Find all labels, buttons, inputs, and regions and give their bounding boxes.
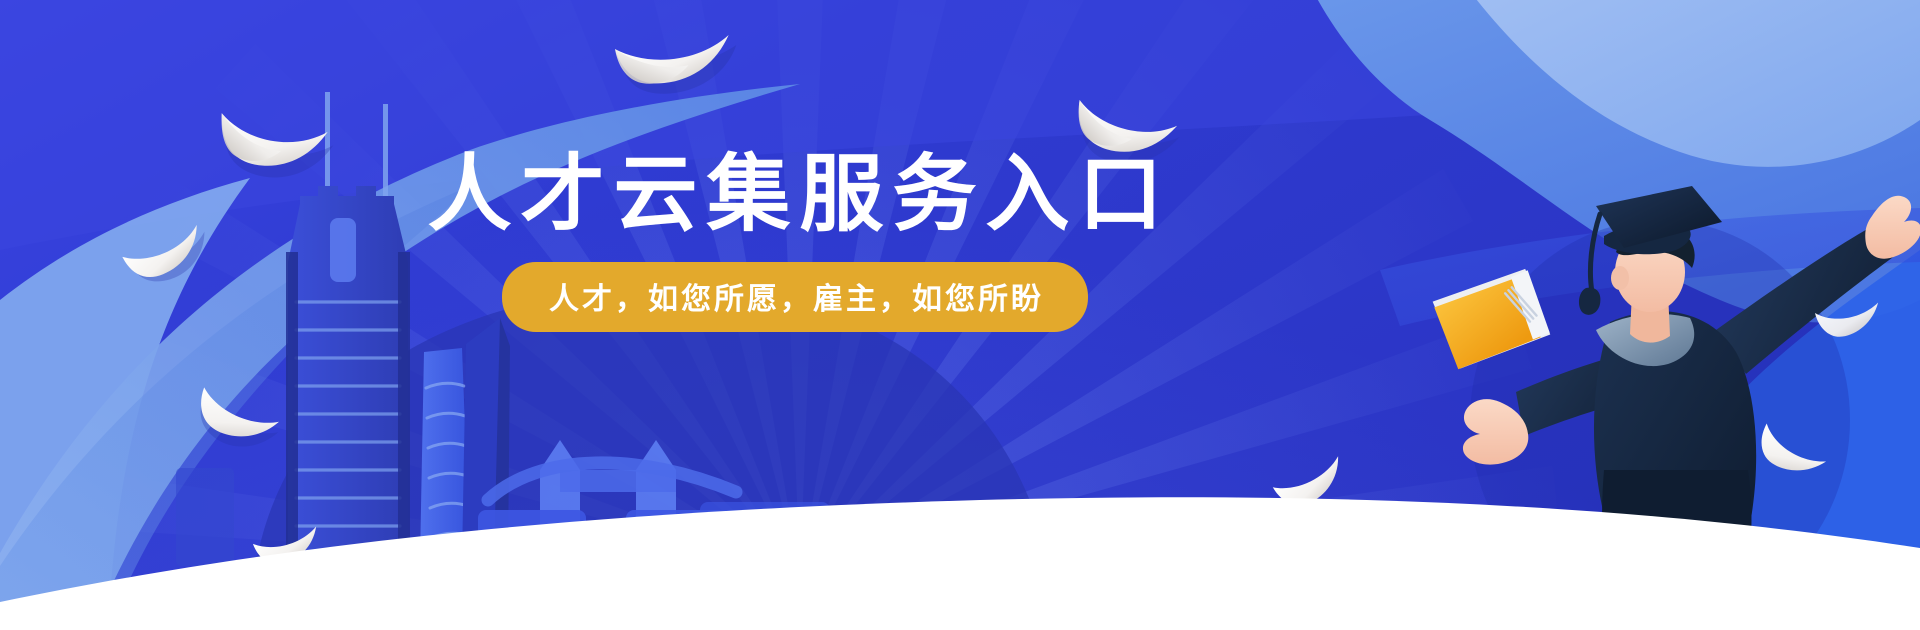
banner-hero: 人才云集服务入口 人才，如您所愿，雇主，如您所盼 <box>0 0 1920 630</box>
page-title: 人才云集服务入口 <box>300 150 1290 238</box>
tagline-row: 人才，如您所愿，雇主，如您所盼 <box>300 262 1290 332</box>
hero-text-block: 人才云集服务入口 人才，如您所愿，雇主，如您所盼 <box>300 150 1290 332</box>
tagline-badge: 人才，如您所愿，雇主，如您所盼 <box>502 262 1088 332</box>
